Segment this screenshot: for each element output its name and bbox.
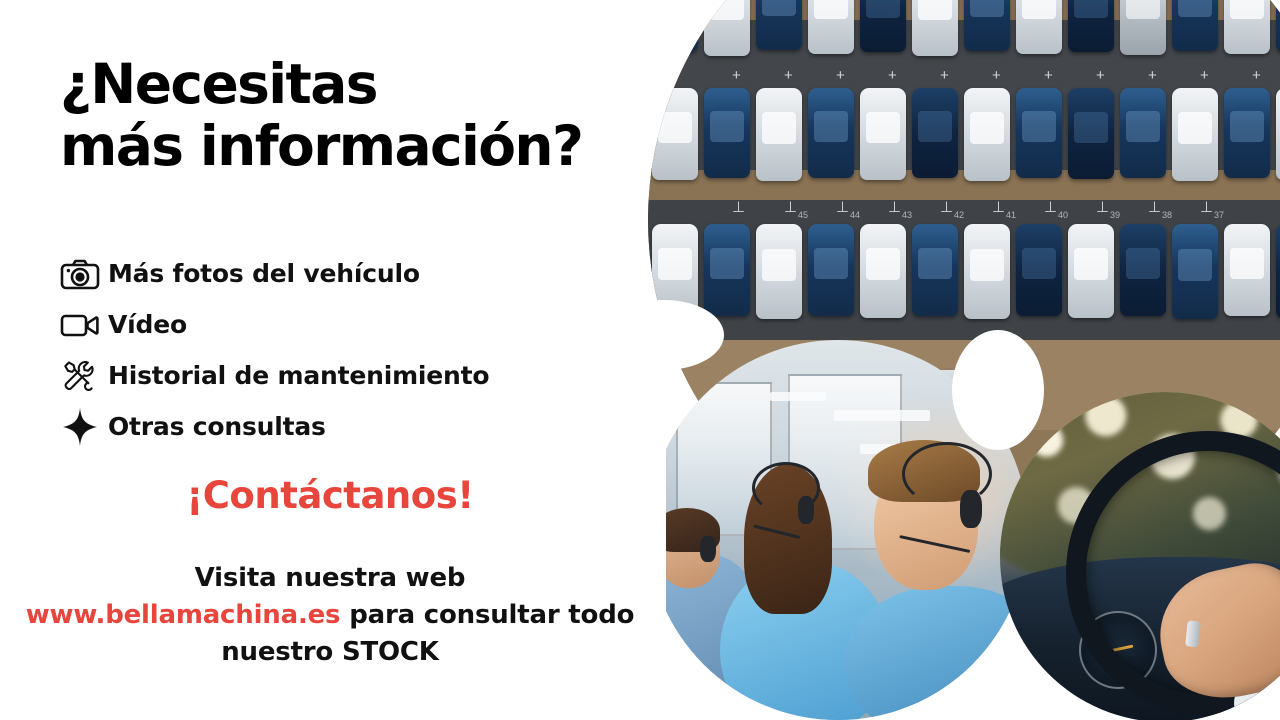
feature-item-other: Otras consultas <box>52 401 652 452</box>
driving-photo <box>1000 392 1280 720</box>
website-url[interactable]: www.bellamachina.es <box>26 600 341 630</box>
tools-wrench-icon <box>52 358 108 394</box>
car-row <box>648 0 1280 56</box>
driver-hand <box>1149 553 1280 709</box>
promo-poster: + + + + + + + + + + + ⊥ ⊥ ⊥ ⊥ ⊥ ⊥ ⊥ ⊥ ⊥ … <box>0 0 1280 720</box>
car-row <box>648 370 1280 410</box>
website-block: Visita nuestra web www.bellamachina.es p… <box>0 560 660 671</box>
call-center-photo <box>648 340 1028 720</box>
feature-label: Más fotos del vehículo <box>108 259 420 288</box>
video-camera-icon <box>52 310 108 340</box>
car-row <box>648 224 1280 319</box>
feature-item-maintenance: Historial de mantenimiento <box>52 350 652 401</box>
feature-label: Historial de mantenimiento <box>108 361 489 390</box>
agent-female <box>720 562 890 720</box>
sparkle-star-icon <box>52 408 108 446</box>
gap-mask <box>952 330 1044 450</box>
feature-item-photos: Más fotos del vehículo <box>52 248 652 299</box>
feature-item-video: Vídeo <box>52 299 652 350</box>
windshield <box>1000 392 1280 583</box>
contact-cta: ¡Contáctanos! <box>0 474 660 517</box>
stock-line: nuestro STOCK <box>0 634 660 671</box>
feature-label: Otras consultas <box>108 412 326 441</box>
dashboard <box>1000 557 1280 720</box>
aerial-car-lot-photo: + + + + + + + + + + + ⊥ ⊥ ⊥ ⊥ ⊥ ⊥ ⊥ ⊥ ⊥ … <box>648 0 1280 570</box>
car-row <box>648 88 1280 181</box>
headline-line-2: más información? <box>60 116 680 178</box>
page-title: ¿Necesitas más información? <box>60 54 680 177</box>
camera-icon <box>52 258 108 290</box>
shirt-cuff <box>1227 652 1280 720</box>
website-url-line: www.bellamachina.es para consultar todo <box>0 597 660 634</box>
feature-list: Más fotos del vehículo Vídeo <box>52 248 652 452</box>
wedding-ring <box>1185 619 1201 646</box>
feature-label: Vídeo <box>108 310 187 339</box>
asphalt-surface <box>648 0 1280 570</box>
text-column: ¿Necesitas más información? Más fotos de… <box>0 0 690 720</box>
speedometer-gauge <box>1079 611 1157 689</box>
steering-wheel <box>1066 431 1280 715</box>
visit-web-line: Visita nuestra web <box>0 560 660 597</box>
headline-line-1: ¿Necesitas <box>60 54 680 116</box>
website-url-suffix: para consultar todo <box>340 600 634 630</box>
agent-foreground <box>844 586 1028 720</box>
